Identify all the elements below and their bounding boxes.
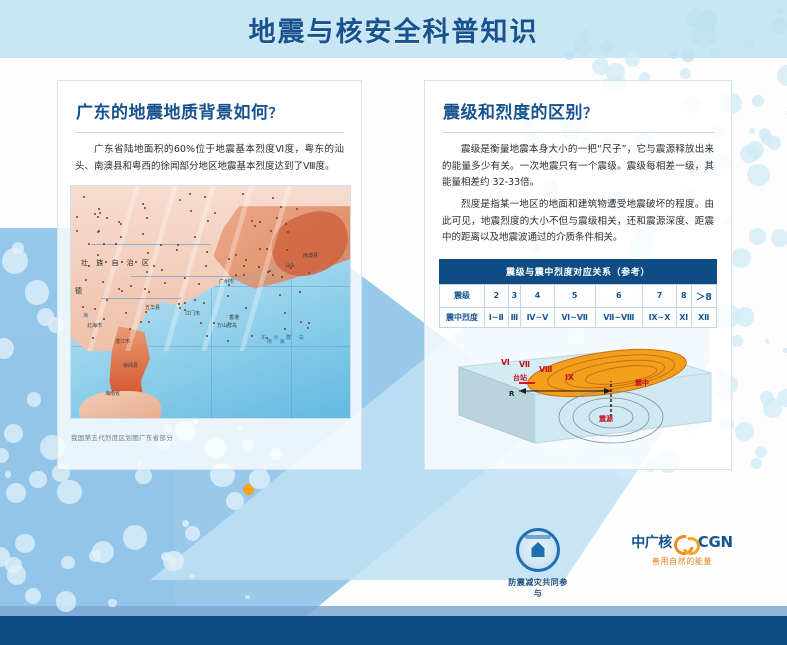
map-city-dot — [272, 197, 274, 199]
map-city-dot — [140, 321, 142, 323]
bubble-decoration — [29, 471, 47, 489]
table-cell: Ⅸ~Ⅹ — [643, 307, 677, 327]
bubble-decoration — [6, 483, 26, 503]
map-city-dot — [144, 288, 146, 290]
diagram-svg: Ⅵ Ⅶ Ⅷ Ⅸ 台站 R 震中 震源 — [439, 339, 717, 449]
disaster-prevention-logo: 防震减灾共同参与 — [505, 528, 571, 599]
map-city-dot — [121, 261, 123, 263]
map-city-dot — [184, 302, 186, 304]
bubble-decoration — [25, 280, 49, 304]
map-city-dot — [105, 261, 107, 263]
map-city-dot — [284, 328, 286, 330]
bubble-decoration — [749, 228, 766, 245]
map-city-dot — [179, 199, 181, 201]
right-card-title-text: 震级和烈度的区别 — [443, 103, 583, 123]
map-sea-label: 海 — [83, 312, 91, 319]
bubble-decoration — [56, 591, 77, 612]
bubble-decoration — [783, 348, 787, 353]
bubble-decoration — [771, 229, 787, 247]
cgn-logo-row: 中广核 CGN — [622, 532, 742, 552]
bubble-decoration — [592, 58, 609, 75]
zone-label-vi: Ⅵ — [501, 358, 510, 367]
table-cell: 8 — [676, 284, 691, 307]
map-place-label: 北海市 — [87, 322, 102, 329]
bubble-decoration — [57, 480, 82, 505]
map-city-dot — [130, 285, 132, 287]
table-row-header: 震级 — [440, 284, 485, 307]
map-city-dot — [281, 276, 283, 278]
map-city-dot — [276, 217, 278, 219]
map-place-label: 香港 — [229, 314, 239, 321]
map-city-dot — [228, 284, 230, 286]
distance-label: R — [509, 390, 515, 398]
table-row-header: 震中烈度 — [440, 307, 485, 327]
map-city-dot — [266, 337, 268, 339]
map-city-dot — [148, 321, 150, 323]
map-city-dot — [235, 274, 237, 276]
map-city-dot — [106, 217, 108, 219]
right-card-paragraph-1: 震级是衡量地震本身大小的一把“尺子”，它与震源释放出来的能量多少有关。一次地震只… — [442, 142, 714, 192]
map-city-dot — [296, 208, 298, 210]
table-cell: Ⅶ~Ⅷ — [595, 307, 643, 327]
table-cell: ＞8 — [691, 284, 716, 307]
map-city-dot — [160, 244, 162, 246]
cgn-english-name: CGN — [698, 533, 733, 551]
bubble-decoration — [135, 468, 151, 484]
map-city-dot — [129, 328, 131, 330]
right-card-paragraph-2: 烈度是指某一地区的地面和建筑物遭受地震破坏的程度。由此可见，地震烈度的大小不但与… — [442, 197, 714, 247]
map-place-label: 徐闻县 — [123, 362, 138, 369]
right-card-title-mark: ？ — [583, 106, 598, 122]
map-place-label: 万山群岛 — [217, 322, 237, 329]
map-city-dot — [259, 221, 261, 223]
table-caption: 震级与震中烈度对应关系（参考） — [439, 259, 717, 284]
table-cell: Ⅻ — [691, 307, 716, 327]
bubble-decoration — [749, 128, 755, 134]
map-city-dot — [206, 335, 208, 337]
earthquake-block-diagram: Ⅵ Ⅶ Ⅷ Ⅸ 台站 R 震中 震源 — [439, 339, 717, 449]
bubble-decoration — [735, 307, 754, 326]
map-city-dot — [214, 212, 216, 214]
map-city-dot — [97, 254, 99, 256]
zone-label-viii: Ⅷ — [539, 365, 552, 374]
map-city-dot — [205, 265, 207, 267]
table-cell: 6 — [595, 284, 643, 307]
left-card-paragraph: 广东省陆地面积的60%位于地震基本烈度Ⅵ度，粤东的汕头、南澳县和粤西的徐闻部分地… — [75, 142, 344, 175]
right-card-body: 震级是衡量地震本身大小的一把“尺子”，它与震源释放出来的能量多少有关。一次地震只… — [425, 133, 731, 247]
bubble-decoration — [731, 335, 742, 346]
map-city-dot — [285, 223, 287, 225]
zone-label-ix: Ⅸ — [565, 373, 574, 382]
left-card-title-mark: ？ — [269, 106, 284, 122]
map-place-label: 海南省 — [105, 390, 120, 397]
station-label: 台站 — [513, 373, 527, 382]
table-cell: 2 — [485, 284, 509, 307]
table-cell: 3 — [508, 284, 521, 307]
map-city-dot — [259, 248, 261, 250]
map-city-dot — [146, 217, 148, 219]
table-cell: 7 — [643, 284, 677, 307]
cgn-chinese-name: 中广核 — [631, 532, 672, 552]
table-cell: Ⅳ~Ⅴ — [521, 307, 555, 327]
bubble-decoration — [37, 308, 54, 325]
map-city-dot — [284, 312, 286, 314]
map-city-dot — [200, 322, 202, 324]
focus-label: 震源 — [598, 414, 613, 423]
seismic-intensity-map: 壮 族 自 治 区德广州市五华县江门市湛江市汕头南澳县徐闻县海南省北海市香港万山… — [70, 185, 351, 419]
right-card-title: 震级和烈度的区别？ — [425, 81, 731, 123]
left-card-body: 广东省陆地面积的60%位于地震基本烈度Ⅵ度，粤东的汕头、南澳县和粤西的徐闻部分地… — [58, 133, 361, 175]
poster-canvas: 地震与核安全科普知识 广东的地震地质背景如何？ 广东省陆地面积的60%位于地震基… — [0, 0, 787, 645]
map-place-label: 五华县 — [145, 304, 160, 311]
table-row: 震级2345678＞8 — [440, 284, 717, 307]
bubble-decoration — [751, 458, 762, 469]
table-cell: 5 — [554, 284, 595, 307]
cgn-swoosh-icon — [674, 534, 696, 551]
map-place-label: 广州市 — [219, 278, 234, 285]
map-city-dot — [97, 216, 99, 218]
shield-emblem-icon — [516, 528, 560, 572]
bubble-decoration — [740, 145, 758, 163]
page-title: 地震与核安全科普知识 — [0, 0, 787, 58]
cgn-logo: 中广核 CGN 善用自然的能量 — [622, 532, 742, 567]
table-cell: Ⅺ — [676, 307, 691, 327]
magnitude-intensity-table: 震级与震中烈度对应关系（参考） 震级2345678＞8震中烈度Ⅰ~ⅡⅢⅣ~ⅤⅥ~… — [439, 259, 717, 328]
map-city-dot — [207, 220, 209, 222]
map-city-dot — [290, 267, 292, 269]
map-place-label: 南澳县 — [303, 252, 318, 259]
map-city-dot — [251, 335, 253, 337]
bubble-decoration — [680, 68, 691, 79]
table-cell: Ⅲ — [508, 307, 521, 327]
left-card-title-text: 广东的地震地质背景如何 — [76, 103, 269, 123]
card-guangdong-background: 广东的地震地质背景如何？ 广东省陆地面积的60%位于地震基本烈度Ⅵ度，粤东的汕头… — [57, 80, 362, 470]
bubble-decoration — [747, 164, 770, 187]
table-cell: Ⅵ~Ⅶ — [554, 307, 595, 327]
map-city-dot — [287, 231, 289, 233]
map-sea-label: 东 沙 群 岛 — [261, 334, 307, 341]
footer-logos: 防震减灾共同参与 中广核 CGN 善用自然的能量 — [0, 524, 787, 594]
map-city-dot — [177, 244, 179, 246]
map-city-dot — [280, 206, 282, 208]
map-place-label: 江门市 — [185, 310, 200, 317]
map-city-dot — [286, 249, 288, 251]
map-city-dot — [76, 216, 78, 218]
disaster-prevention-caption: 防震减灾共同参与 — [505, 577, 571, 599]
zone-label-vii: Ⅶ — [519, 360, 530, 369]
map-place-label: 德 — [75, 286, 85, 296]
map-place-label: 湛江市 — [115, 338, 130, 345]
map-city-dot — [148, 291, 150, 293]
map-city-dot — [243, 265, 245, 267]
map-city-dot — [145, 311, 147, 313]
cgn-tagline: 善用自然的能量 — [622, 556, 742, 567]
map-caption: 我国第五代烈度区划图广东省部分 — [71, 432, 173, 442]
map-city-dot — [142, 203, 144, 205]
card-magnitude-vs-intensity: 震级和烈度的区别？ 震级是衡量地震本身大小的一把“尺子”，它与震源释放出来的能量… — [424, 80, 732, 470]
table-cell: 4 — [521, 284, 555, 307]
map-city-dot — [308, 322, 310, 324]
map-place-label: 壮 族 自 治 区 — [81, 258, 152, 268]
table-row: 震中烈度Ⅰ~ⅡⅢⅣ~ⅤⅥ~ⅦⅦ~ⅧⅨ~ⅩⅪⅫ — [440, 307, 717, 327]
epicenter-label: 震中 — [634, 378, 649, 387]
left-card-title: 广东的地震地质背景如何？ — [58, 81, 361, 123]
map-city-dot — [142, 233, 144, 235]
bubble-decoration — [27, 392, 42, 407]
bubble-decoration — [777, 65, 787, 86]
table-cell: Ⅰ~Ⅱ — [485, 307, 509, 327]
map-city-dot — [266, 248, 268, 250]
footer-bar — [0, 616, 787, 645]
map-city-dot — [203, 302, 205, 304]
bubble-decoration — [752, 95, 764, 107]
bubble-decoration — [226, 492, 244, 510]
map-city-dot — [153, 265, 155, 267]
